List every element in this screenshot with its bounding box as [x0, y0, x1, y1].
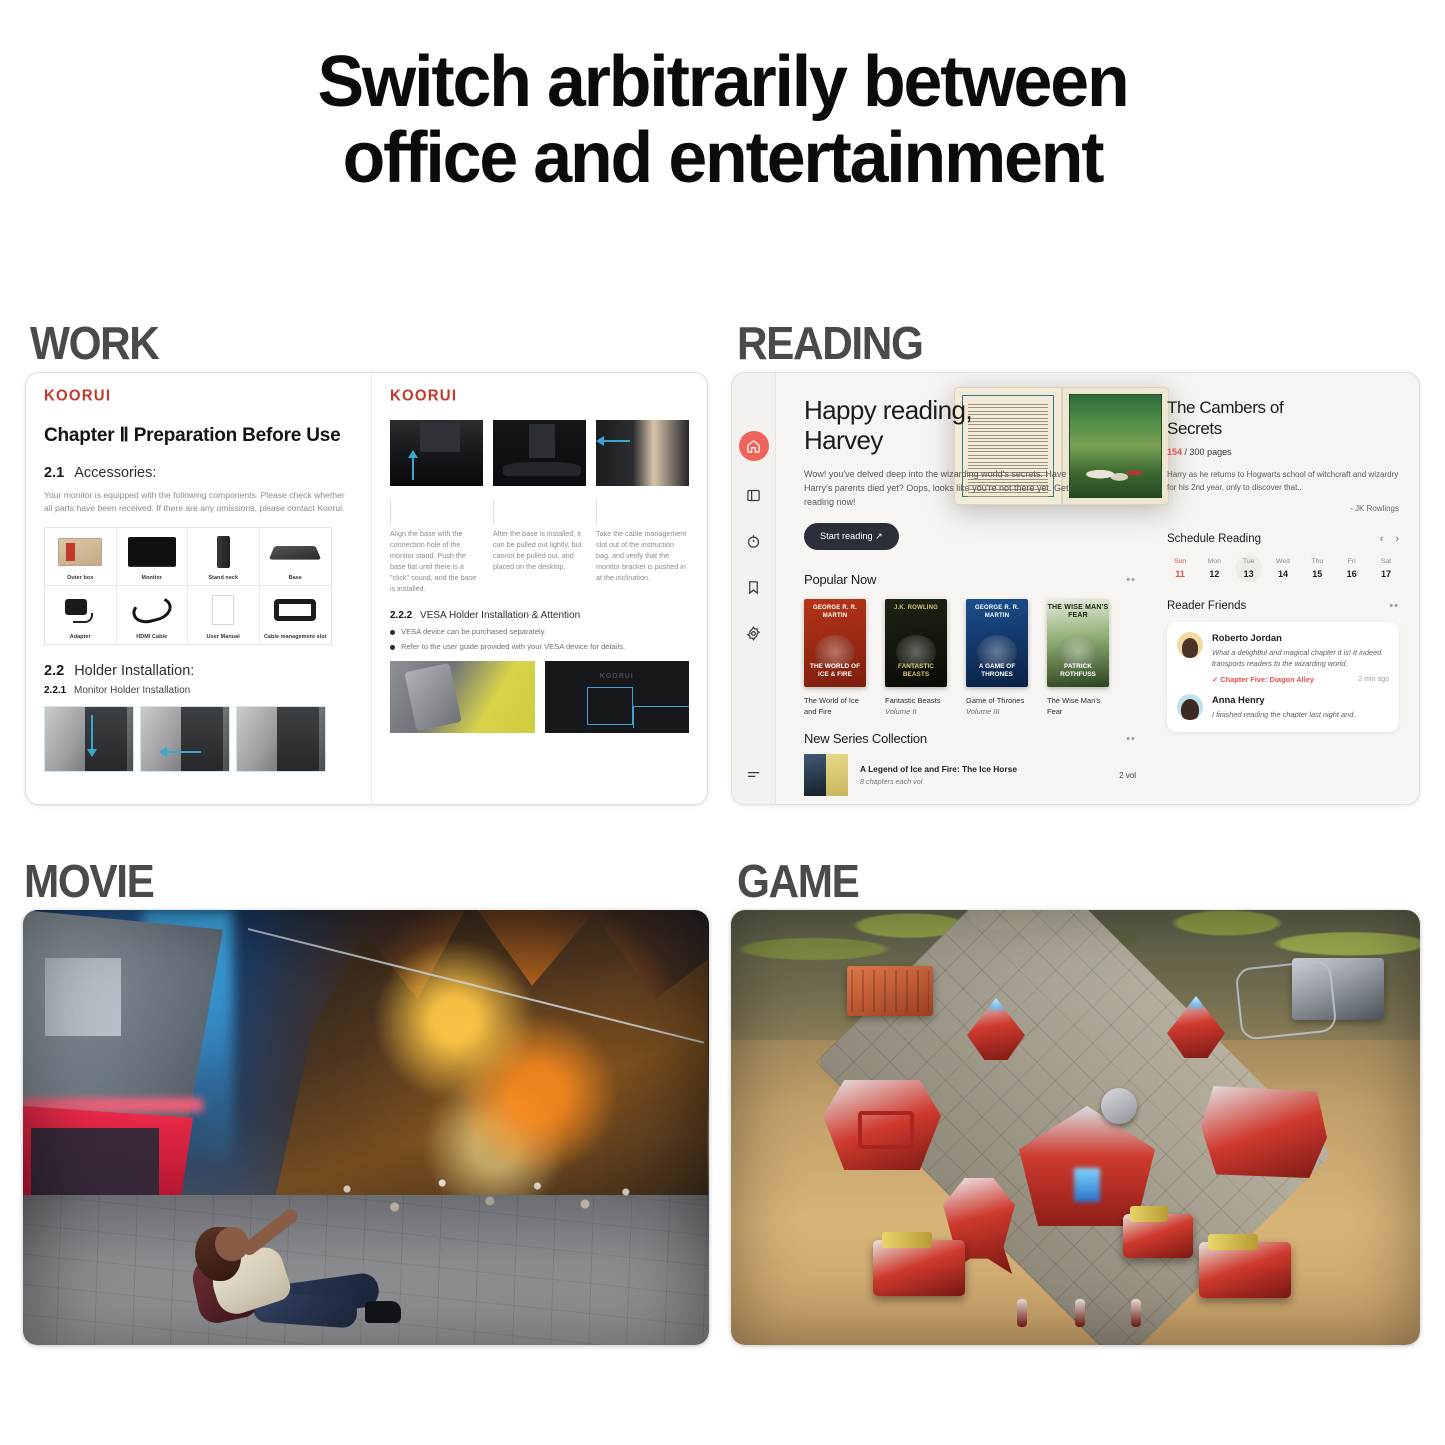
schedule-day[interactable]: Sat 17	[1373, 555, 1399, 582]
library-icon[interactable]	[742, 483, 766, 507]
friend-chapter: ✓ Chapter Five: Diagon Alley	[1212, 675, 1314, 684]
popular-now-title: Popular Now	[804, 572, 876, 587]
cover-bottom-text: A GAME OF THRONES	[966, 663, 1028, 679]
friend-item[interactable]: Anna Henry I finished reading the chapte…	[1177, 694, 1389, 720]
book-cover: GEORGE R. R. MARTIN A GAME OF THRONES	[966, 599, 1028, 687]
day-number: 13	[1236, 569, 1262, 579]
cover-top-text: GEORGE R. R. MARTIN	[804, 604, 866, 620]
series-list-item[interactable]: A Legend of Ice and Fire: The Ice Horse …	[804, 754, 1136, 796]
accessory-label: Monitor	[142, 575, 162, 581]
pages-current: 154	[1167, 447, 1182, 457]
vesa-arm-photo	[390, 661, 535, 733]
friend-name: Anna Henry	[1212, 694, 1389, 705]
book-card[interactable]: GEORGE R. R. MARTIN THE WORLD OF ICE & F…	[804, 599, 866, 717]
day-number: 16	[1339, 569, 1365, 579]
section-2-1-body: Your monitor is equipped with the follow…	[44, 489, 352, 515]
section-label-game: GAME	[737, 858, 858, 904]
accessory-cell: Stand neck	[188, 528, 260, 586]
user-manual-icon	[188, 586, 259, 634]
day-name: Tue	[1236, 558, 1262, 565]
vesa-monitor-back-photo: KOORUI	[545, 661, 690, 733]
section-2-1-title: Accessories:	[74, 465, 156, 481]
adapter-icon	[45, 586, 116, 634]
friend-time: 2 min ago	[1358, 676, 1389, 683]
book-card[interactable]: GEORGE R. R. MARTIN A GAME OF THRONES Ga…	[966, 599, 1028, 717]
timer-icon[interactable]	[742, 529, 766, 553]
day-number: 11	[1167, 569, 1193, 579]
friend-item[interactable]: Roberto Jordan What a delightful and mag…	[1177, 632, 1389, 684]
page-title: Switch arbitrarily between office and en…	[22, 44, 1424, 196]
series-more-icon[interactable]: ••	[1126, 733, 1136, 745]
cover-bottom-text: PATRICK ROTHFUSS	[1047, 663, 1109, 679]
manual-page-left: KOORUI Chapter Ⅱ Preparation Before Use …	[26, 373, 372, 804]
greeting: Happy reading, Harvey	[804, 395, 1196, 455]
accessory-label: HDMI Cable	[136, 634, 167, 640]
popular-now-header: Popular Now ••	[804, 572, 1136, 587]
accessory-label: Base	[289, 575, 302, 581]
cover-top-text: THE WISE MAN'S FEAR	[1047, 604, 1109, 620]
friend-name: Roberto Jordan	[1212, 632, 1389, 643]
popular-more-icon[interactable]: ••	[1126, 574, 1136, 586]
day-number: 15	[1304, 569, 1330, 579]
base-icon	[260, 528, 332, 575]
bullet-dot-icon	[390, 645, 395, 650]
promo-page: Switch arbitrarily between office and en…	[0, 0, 1445, 1445]
series-item-title: A Legend of Ice and Fire: The Ice Horse	[860, 764, 1107, 774]
accessory-cell: Adapter	[45, 586, 117, 644]
koorui-logo: KOORUI	[44, 387, 353, 405]
new-series-title: New Series Collection	[804, 731, 927, 746]
accessory-label: Adapter	[70, 634, 91, 640]
start-reading-button[interactable]: Start reading ↗	[804, 523, 899, 550]
cover-bottom-text: FANTASTIC BEASTS	[885, 663, 947, 679]
reader-friends-title: Reader Friends	[1167, 600, 1246, 612]
cover-bottom-text: THE WORLD OF ICE & FIRE	[804, 663, 866, 679]
schedule-title: Schedule Reading	[1167, 533, 1261, 545]
game-scene-image	[731, 910, 1420, 1345]
stand-neck-icon	[188, 528, 259, 575]
vesa-bullet: VESA device can be purchased separately.	[390, 627, 689, 636]
vesa-photos: KOORUI	[390, 661, 689, 733]
headline-line-1: Switch arbitrarily between	[317, 42, 1127, 122]
section-2-2-2-title: VESA Holder Installation & Attention	[420, 610, 580, 621]
book-cover: GEORGE R. R. MARTIN THE WORLD OF ICE & F…	[804, 599, 866, 687]
accessory-cell: Monitor	[117, 528, 189, 586]
reading-sidebar	[732, 373, 776, 804]
schedule-day[interactable]: Sun 11	[1167, 555, 1193, 582]
home-icon[interactable]	[739, 431, 769, 461]
series-cover	[804, 754, 848, 796]
schedule-day[interactable]: Fri 16	[1339, 555, 1365, 582]
reading-main: Happy reading, Harvey Wow! you've delved…	[776, 373, 1419, 804]
schedule-day[interactable]: Wed 14	[1270, 555, 1296, 582]
hdmi-cable-icon	[117, 586, 188, 634]
vignette-overlay	[731, 910, 1420, 1345]
section-2-1-number: 2.1	[44, 465, 64, 481]
install-step-photo	[140, 706, 230, 772]
avatar	[1177, 632, 1203, 658]
monitor-icon	[117, 528, 188, 575]
movie-scene-image	[23, 910, 709, 1345]
pages-total: / 300 pages	[1185, 447, 1232, 457]
section-2-2-1-number: 2.2.1	[44, 685, 66, 696]
day-name: Sun	[1167, 558, 1193, 565]
accessory-label: Cable management slot	[264, 634, 327, 640]
caption: After the base is installed, it can be p…	[493, 508, 586, 594]
install-step-photo	[236, 706, 326, 772]
accessories-table: Outer box Monitor Stand neck Base	[44, 527, 332, 645]
base-photo-1	[390, 420, 483, 486]
accessory-label: User Manual	[207, 634, 240, 640]
reading-right-column: The Cambers of Secrets 154 / 300 pages H…	[1151, 373, 1419, 804]
arrow-left-icon	[167, 751, 201, 753]
book-title: Game of Thrones	[966, 695, 1028, 706]
monitor-back-logo: KOORUI	[600, 673, 634, 680]
current-book-description: Harry as he returns to Hogwarts school o…	[1167, 469, 1399, 494]
schedule-day-selected[interactable]: Tue 13	[1236, 555, 1262, 582]
schedule-day[interactable]: Mon 12	[1201, 555, 1227, 582]
friend-meta: ✓ Chapter Five: Diagon Alley 2 min ago	[1212, 675, 1389, 684]
work-panel: KOORUI Chapter Ⅱ Preparation Before Use …	[25, 372, 708, 805]
arrow-up-icon	[412, 458, 414, 480]
caption: Take the cable management slot out of th…	[596, 508, 689, 594]
section-2-2-number: 2.2	[44, 663, 64, 679]
accessory-cell: Outer box	[45, 528, 117, 586]
vesa-bullet-text: Refer to the user guide provided with yo…	[401, 642, 625, 651]
base-photo-2	[493, 420, 586, 486]
cable-slot-icon	[260, 586, 332, 634]
day-name: Mon	[1201, 558, 1227, 565]
bookmark-icon[interactable]	[742, 575, 766, 599]
vesa-bullet-text: VESA device can be purchased separately.	[401, 627, 546, 636]
bullet-dot-icon	[390, 630, 395, 635]
section-2-2-2-heading: 2.2.2 VESA Holder Installation & Attenti…	[390, 610, 689, 621]
section-2-2-2-number: 2.2.2	[390, 610, 412, 621]
arrow-left-icon	[604, 440, 630, 442]
schedule-days: Sun 11 Mon 12 Tue 13 Wed	[1167, 555, 1399, 582]
greeting-line-2: Harvey	[804, 425, 1196, 455]
outer-box-icon	[45, 528, 116, 575]
book-card[interactable]: J.K. ROWLING FANTASTIC BEASTS Fantastic …	[885, 599, 947, 717]
section-label-movie: MOVIE	[24, 858, 153, 904]
arrow-down-icon	[91, 715, 93, 749]
menu-icon[interactable]	[742, 762, 766, 786]
new-series-section: New Series Collection •• A Legend of Ice…	[804, 731, 1196, 796]
avatar	[1177, 694, 1203, 720]
section-label-work: WORK	[30, 320, 158, 366]
vesa-mount-outline	[587, 687, 633, 725]
friend-message: What a delightful and magical chapter it…	[1212, 647, 1389, 669]
day-name: Fri	[1339, 558, 1365, 565]
book-title: The Wise Man's Fear	[1047, 695, 1109, 717]
book-title: Fantastic Beasts	[885, 695, 947, 706]
reading-app: Happy reading, Harvey Wow! you've delved…	[732, 373, 1419, 804]
current-book-author: - JK Rowlings	[1167, 504, 1399, 513]
section-2-2-1-heading: 2.2.1 Monitor Holder Installation	[44, 685, 353, 696]
current-book-title-line-1: The Cambers of	[1167, 397, 1399, 418]
book-cover: J.K. ROWLING FANTASTIC BEASTS	[885, 599, 947, 687]
koorui-logo: KOORUI	[390, 387, 689, 405]
new-series-header: New Series Collection ••	[804, 731, 1136, 746]
section-2-1-heading: 2.1 Accessories:	[44, 465, 353, 481]
reader-friends-card: Roberto Jordan What a delightful and mag…	[1167, 622, 1399, 732]
day-number: 14	[1270, 569, 1296, 579]
popular-books-list: GEORGE R. R. MARTIN THE WORLD OF ICE & F…	[804, 599, 1196, 717]
section-2-2-1-title: Monitor Holder Installation	[74, 685, 190, 696]
manual-page-right: KOORUI Align the base with the connectio…	[372, 373, 707, 804]
accessory-label: Outer box	[67, 575, 93, 581]
series-item-volumes: 2 vol	[1119, 771, 1136, 780]
vignette-overlay	[23, 910, 709, 1345]
reading-progress: 154 / 300 pages	[1167, 447, 1399, 457]
holder-install-steps	[44, 706, 353, 772]
base-install-photos	[390, 420, 689, 486]
section-2-2-heading: 2.2 Holder Installation:	[44, 663, 353, 679]
greeting-line-1: Happy reading,	[804, 395, 1196, 425]
friends-more-icon[interactable]: ••	[1389, 600, 1399, 612]
accessory-cell: Cable management slot	[260, 586, 332, 644]
settings-icon[interactable]	[742, 621, 766, 645]
schedule-nav: ‹ ›	[1380, 533, 1399, 545]
section-label-reading: READING	[737, 320, 922, 366]
headline-line-2: office and entertainment	[22, 120, 1424, 196]
current-book-title-line-2: Secrets	[1167, 418, 1399, 439]
day-name: Wed	[1270, 558, 1296, 565]
day-name: Sat	[1373, 558, 1399, 565]
schedule-next-icon[interactable]: ›	[1395, 533, 1399, 545]
game-panel	[731, 910, 1420, 1345]
series-text: A Legend of Ice and Fire: The Ice Horse …	[860, 764, 1107, 786]
reading-panel: Happy reading, Harvey Wow! you've delved…	[731, 372, 1420, 805]
cover-top-text: J.K. ROWLING	[885, 604, 947, 612]
install-step-photo	[44, 706, 134, 772]
accessory-cell: User Manual	[188, 586, 260, 644]
cover-top-text: GEORGE R. R. MARTIN	[966, 604, 1028, 620]
day-number: 12	[1201, 569, 1227, 579]
current-book-title: The Cambers of Secrets	[1167, 397, 1399, 439]
day-name: Thu	[1304, 558, 1330, 565]
base-photo-3	[596, 420, 689, 486]
movie-panel	[23, 910, 709, 1345]
schedule-prev-icon[interactable]: ‹	[1380, 533, 1384, 545]
section-2-2-title: Holder Installation:	[74, 663, 194, 679]
friend-message: I finished reading the chapter last nigh…	[1212, 709, 1389, 720]
book-card[interactable]: THE WISE MAN'S FEAR PATRICK ROTHFUSS The…	[1047, 599, 1109, 717]
book-subtitle: Volume III	[966, 706, 1028, 717]
book-title: The World of Ice and Fire	[804, 695, 866, 717]
chapter-title: Chapter Ⅱ Preparation Before Use	[44, 424, 353, 447]
book-cover: THE WISE MAN'S FEAR PATRICK ROTHFUSS	[1047, 599, 1109, 687]
reader-friends-header: Reader Friends ••	[1167, 600, 1399, 612]
accessory-label: Stand neck	[208, 575, 238, 581]
base-install-captions: Align the base with the connection hole …	[390, 508, 689, 594]
vesa-bullet: Refer to the user guide provided with yo…	[390, 642, 689, 651]
schedule-header: Schedule Reading ‹ ›	[1167, 533, 1399, 545]
schedule-day[interactable]: Thu 15	[1304, 555, 1330, 582]
series-item-subtitle: 8 chapters each vol	[860, 777, 1107, 786]
caption: Align the base with the connection hole …	[390, 508, 483, 594]
greeting-blurb: Wow! you've delved deep into the wizardi…	[804, 467, 1069, 509]
accessory-cell: Base	[260, 528, 332, 586]
manual-spread: KOORUI Chapter Ⅱ Preparation Before Use …	[26, 373, 707, 804]
book-subtitle: Volume II	[885, 706, 947, 717]
reading-left-column: Happy reading, Harvey Wow! you've delved…	[776, 373, 1196, 804]
accessory-cell: HDMI Cable	[117, 586, 189, 644]
vesa-callout-line	[633, 706, 690, 728]
day-number: 17	[1373, 569, 1399, 579]
